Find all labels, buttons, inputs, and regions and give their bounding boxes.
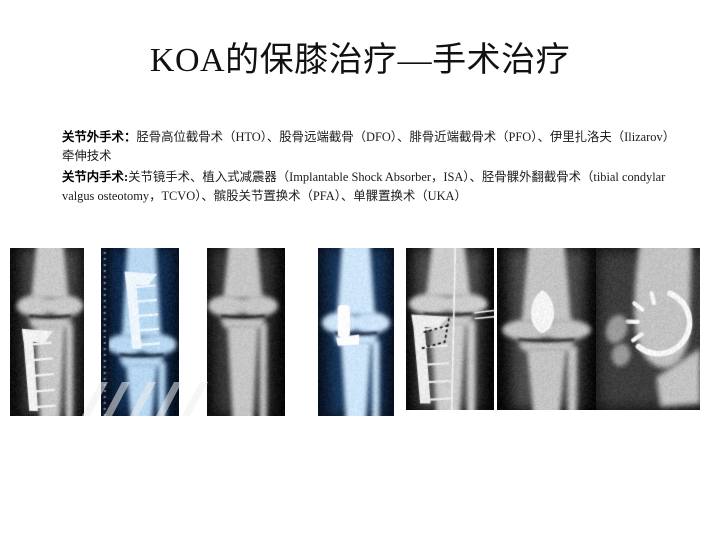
paragraph-intraarticular-lead: 关节内手术: bbox=[62, 170, 128, 184]
paragraph-extraarticular-lead: 关节外手术： bbox=[62, 130, 136, 144]
paragraph-intraarticular-body: 关节镜手术、植入式减震器（Implantable Shock Absorber，… bbox=[62, 170, 665, 203]
paragraph-intraarticular: 关节内手术:关节镜手术、植入式减震器（Implantable Shock Abs… bbox=[62, 168, 676, 205]
xray-image-tcvo-osteotomy bbox=[406, 248, 494, 410]
xray-canvas-tcvo bbox=[406, 248, 494, 410]
slide-root: KOA的保膝治疗—手术治疗 关节外手术：胫骨高位截骨术（HTO）、股骨远端截骨（… bbox=[0, 0, 720, 540]
xray-image-native-knee-ap bbox=[207, 248, 285, 416]
xray-canvas-isa bbox=[318, 248, 394, 416]
xray-canvas-hto-blue bbox=[101, 248, 179, 416]
body-text-block: 关节外手术：胫骨高位截骨术（HTO）、股骨远端截骨（DFO）、腓骨近端截骨术（P… bbox=[62, 128, 676, 208]
xray-canvas-pfa-ap bbox=[497, 248, 596, 410]
xray-image-pfa-ap bbox=[497, 248, 596, 410]
paragraph-extraarticular: 关节外手术：胫骨高位截骨术（HTO）、股骨远端截骨（DFO）、腓骨近端截骨术（P… bbox=[62, 128, 676, 165]
xray-canvas-pfa-lateral bbox=[596, 248, 700, 410]
xray-figure-strip bbox=[0, 248, 720, 420]
xray-image-pfa-lateral bbox=[596, 248, 700, 410]
paragraph-extraarticular-body: 胫骨高位截骨术（HTO）、股骨远端截骨（DFO）、腓骨近端截骨术（PFO）、伊里… bbox=[62, 130, 675, 163]
page-title: KOA的保膝治疗—手术治疗 bbox=[0, 40, 720, 82]
xray-canvas-native-knee bbox=[207, 248, 285, 416]
xray-image-hto-plate-ap-blue bbox=[101, 248, 179, 416]
xray-image-hto-plate-ap-grayscale bbox=[10, 248, 84, 416]
xray-image-implantable-shock-absorber bbox=[318, 248, 394, 416]
xray-canvas-hto-grayscale bbox=[10, 248, 84, 416]
